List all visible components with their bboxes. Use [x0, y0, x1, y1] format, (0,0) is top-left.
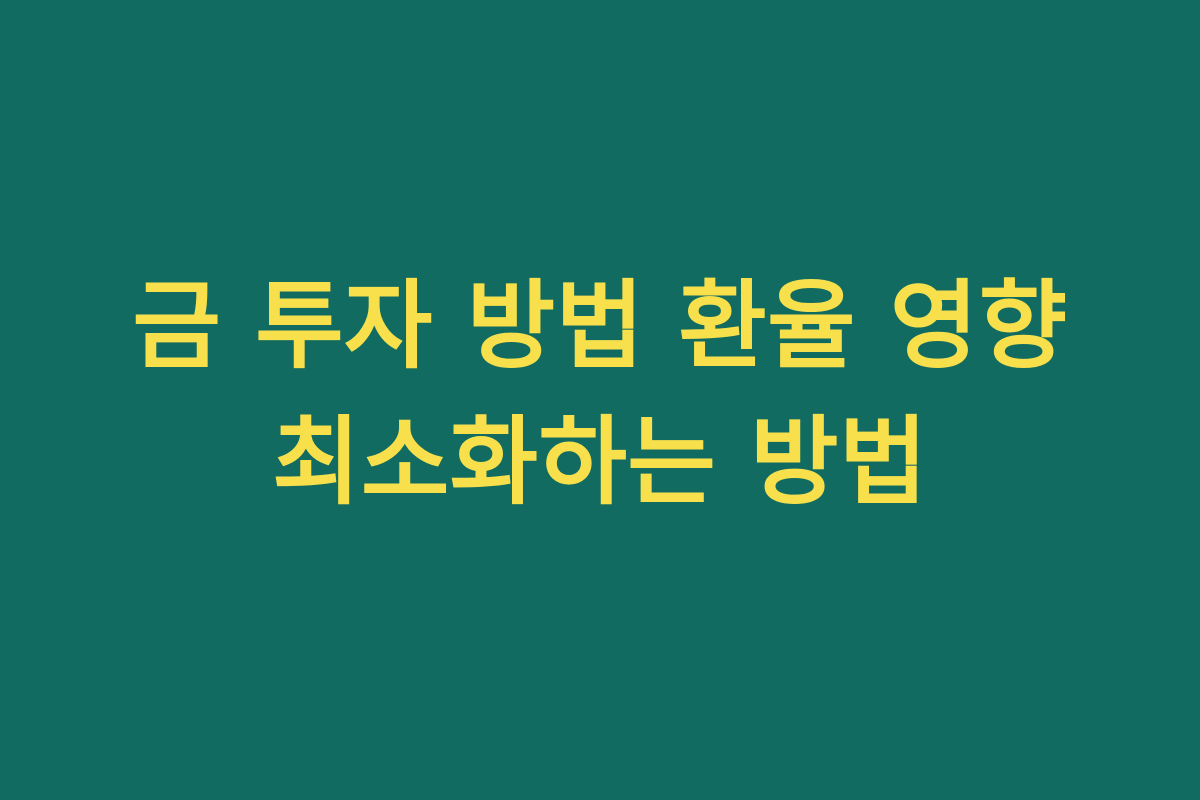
title-line-1: 금 투자 방법 환율 영향	[132, 258, 1067, 394]
title-card: 금 투자 방법 환율 영향 최소화하는 방법	[0, 0, 1200, 800]
title-line-2: 최소화하는 방법	[272, 394, 928, 530]
page-title: 금 투자 방법 환율 영향 최소화하는 방법	[50, 258, 1150, 531]
